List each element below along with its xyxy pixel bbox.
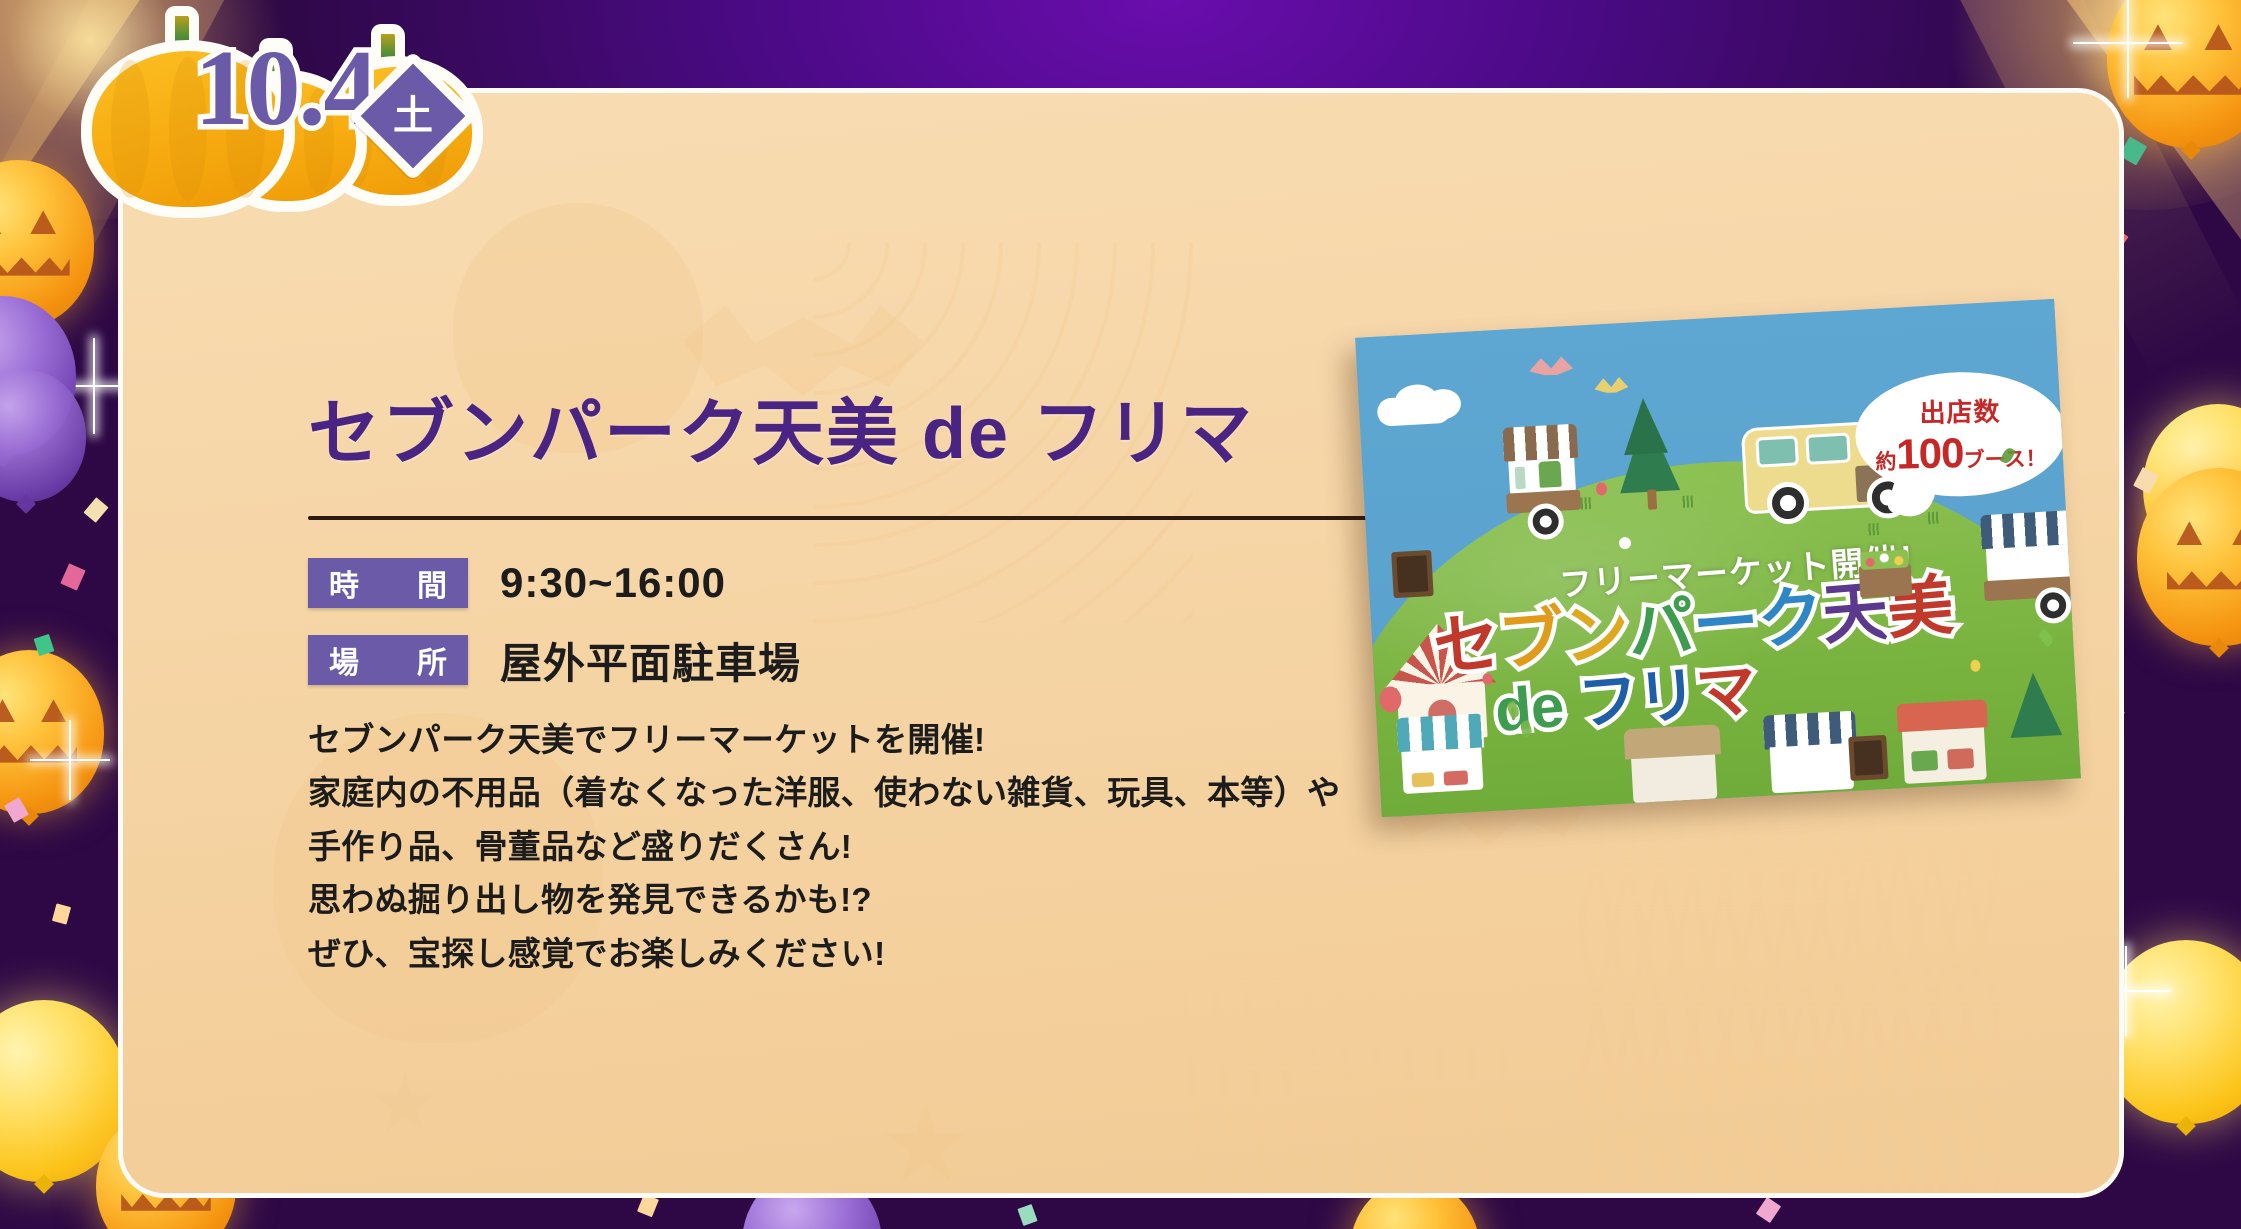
title-divider [308, 516, 1503, 520]
tree-icon [2007, 671, 2062, 738]
description-line: 家庭内の不用品（着なくなった洋服、使わない雑貨、玩具、本等）や [308, 766, 1488, 819]
day-of-week-label: 土 [376, 79, 450, 153]
confetti [60, 563, 85, 590]
pumpkin-balloon-icon [2107, 0, 2241, 148]
badge-number: 100 [1896, 429, 1964, 477]
info-row-time: 時 間 9:30~16:00 [308, 558, 1488, 608]
badge-prefix: 約 [1875, 450, 1896, 473]
market-stall-icon [1980, 510, 2081, 601]
event-info-list: 時 間 9:30~16:00 場 所 屋外平面駐車場 [308, 558, 1488, 691]
stall-awning [1396, 713, 1484, 752]
stall-shelf [1770, 743, 1854, 794]
market-stall-icon [1623, 724, 1723, 803]
title-char: パ [1625, 593, 1695, 664]
jack-o-lantern-face [2137, 468, 2241, 646]
description-line: 手作り品、骨董品など盛りだくさん! [308, 820, 1488, 873]
info-label-place: 場 所 [308, 635, 468, 685]
van-window [1805, 432, 1851, 464]
stall-item [1443, 770, 1468, 785]
title-char: マ [1694, 660, 1758, 725]
planter-flowers [1860, 549, 1909, 570]
market-stall-icon [1763, 711, 1859, 794]
jack-o-lantern-face [2107, 0, 2241, 148]
title-char: e [1528, 676, 1565, 738]
chalkboard-sign-icon [1848, 735, 1888, 781]
event-description: セブンパーク天美でフリーマーケットを開催! 家庭内の不用品（着なくなった洋服、使… [308, 713, 1488, 980]
pumpkin-balloon-icon [2137, 468, 2241, 646]
info-value-time: 9:30~16:00 [500, 559, 726, 607]
page-title: セブンパーク天美 de フリマ [308, 393, 1488, 476]
date-value: 10.4 [195, 29, 376, 148]
confetti [52, 903, 71, 924]
stall-plant [1538, 461, 1561, 488]
stall-awning [1980, 510, 2078, 549]
event-flyer-image: 出店数 約100ブース！ フリーマーケット開催！ セブンパーク天美 de フリマ [1355, 299, 2081, 817]
chalkboard-sign-icon [1391, 550, 1434, 598]
title-char: ン [1561, 598, 1631, 669]
confetti [1756, 1197, 1781, 1223]
info-label-time: 時 間 [308, 558, 468, 608]
stall-item [1947, 748, 1974, 769]
confetti [83, 497, 108, 523]
stall-shelf [1631, 754, 1717, 803]
pumpkin-balloon-icon [0, 650, 104, 814]
badge-top-text: 出店数 [1919, 391, 2001, 430]
stall-item [1412, 772, 1435, 787]
event-date-badge: 10.4 土 [75, 0, 495, 222]
info-row-place: 場 所 屋外平面駐車場 [308, 630, 1488, 691]
market-stall-icon [1502, 424, 1581, 514]
description-line: 思わぬ掘り出し物を発見できるかも!? [308, 873, 1488, 926]
stall-awning [1502, 424, 1578, 462]
stall-item [1515, 467, 1526, 490]
title-char: ブ [1496, 604, 1566, 675]
title-char: フ [1576, 670, 1640, 735]
stall-item [1911, 750, 1938, 771]
description-line: セブンパーク天美でフリーマーケットを開催! [308, 713, 1488, 766]
title-char: ク [1755, 582, 1825, 653]
confetti [1017, 1204, 1037, 1226]
badge-main-text: 約100ブース！ [1875, 427, 2047, 479]
market-stall-icon [1896, 699, 1990, 784]
tree-trunk [1647, 489, 1657, 509]
event-content: セブンパーク天美 de フリマ 時 間 9:30~16:00 場 所 屋外平面駐… [308, 393, 1488, 980]
description-line: ぜひ、宝探し感覚でお楽しみください! [308, 927, 1488, 980]
jack-o-lantern-face [0, 650, 104, 814]
info-value-place: 屋外平面駐車場 [500, 630, 801, 691]
title-char: ー [1690, 588, 1760, 659]
title-char: リ [1635, 665, 1699, 730]
title-char: セ [1431, 609, 1501, 680]
tree-icon [1621, 397, 1668, 455]
van-window [1755, 435, 1799, 467]
market-stall-icon [1396, 713, 1486, 794]
